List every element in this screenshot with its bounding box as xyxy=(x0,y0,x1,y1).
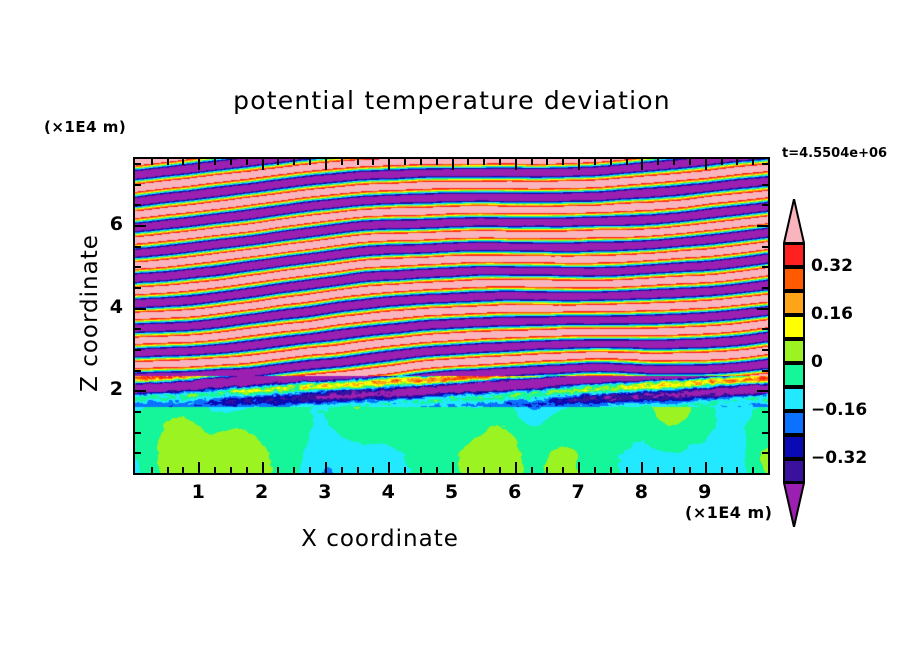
x-major-tick xyxy=(578,462,580,473)
colorbar-over-arrow xyxy=(783,199,805,243)
y-major-tick xyxy=(135,308,146,310)
x-tick-label: 5 xyxy=(432,481,472,503)
page-title: potential temperature deviation xyxy=(0,86,904,115)
x-minor-tick xyxy=(214,467,216,473)
x-tick-label: 7 xyxy=(558,481,598,503)
x-minor-tick xyxy=(436,467,438,473)
x-minor-tick-top xyxy=(214,159,216,165)
colorbar: 0.320.160−0.16−0.32 xyxy=(783,199,805,521)
y-axis-unit-label: (×1E4 m) xyxy=(44,118,126,136)
x-major-tick xyxy=(515,462,517,473)
x-tick-label: 1 xyxy=(178,481,218,503)
x-major-tick xyxy=(325,462,327,473)
colorbar-under-arrow xyxy=(783,483,805,527)
y-minor-tick-right xyxy=(762,163,768,165)
x-major-tick-top xyxy=(388,159,390,170)
x-minor-tick xyxy=(594,467,596,473)
colorbar-tick-label: 0.32 xyxy=(811,256,853,276)
x-minor-tick-top xyxy=(277,159,279,165)
x-major-tick-top xyxy=(578,159,580,170)
x-minor-tick xyxy=(293,467,295,473)
y-minor-tick-right xyxy=(762,411,768,413)
contour-plot-area xyxy=(133,157,770,475)
y-major-tick-right xyxy=(757,308,768,310)
x-minor-tick-top xyxy=(182,159,184,165)
y-minor-tick-right xyxy=(762,452,768,454)
x-minor-tick xyxy=(546,467,548,473)
time-annotation: t=4.5504e+06 xyxy=(782,146,887,161)
colorbar-band xyxy=(783,435,805,459)
x-minor-tick-top xyxy=(562,159,564,165)
y-minor-tick xyxy=(135,328,141,330)
colorbar-tick-label: −0.32 xyxy=(811,448,867,468)
y-minor-tick xyxy=(135,411,141,413)
y-major-tick-right xyxy=(757,390,768,392)
y-minor-tick xyxy=(135,432,141,434)
colorbar-band xyxy=(783,411,805,435)
x-minor-tick xyxy=(721,467,723,473)
x-major-tick-top xyxy=(452,159,454,170)
y-minor-tick xyxy=(135,246,141,248)
y-minor-tick xyxy=(135,163,141,165)
x-minor-tick-top xyxy=(309,159,311,165)
x-minor-tick xyxy=(562,467,564,473)
x-minor-tick xyxy=(689,467,691,473)
x-minor-tick xyxy=(404,467,406,473)
y-minor-tick-right xyxy=(762,184,768,186)
x-axis-unit-label: (×1E4 m) xyxy=(685,503,772,522)
x-minor-tick-top xyxy=(721,159,723,165)
x-minor-tick xyxy=(673,467,675,473)
x-major-tick-top xyxy=(325,159,327,170)
colorbar-band xyxy=(783,459,805,483)
x-minor-tick xyxy=(167,467,169,473)
x-minor-tick xyxy=(277,467,279,473)
x-minor-tick-top xyxy=(499,159,501,165)
y-major-tick xyxy=(135,225,146,227)
x-tick-label: 4 xyxy=(368,481,408,503)
y-minor-tick xyxy=(135,452,141,454)
x-minor-tick-top xyxy=(246,159,248,165)
y-axis-title: Z coordinate xyxy=(77,203,103,423)
x-minor-tick xyxy=(230,467,232,473)
x-minor-tick-top xyxy=(420,159,422,165)
x-minor-tick xyxy=(499,467,501,473)
colorbar-band xyxy=(783,339,805,363)
y-minor-tick xyxy=(135,287,141,289)
x-tick-label: 8 xyxy=(621,481,661,503)
x-minor-tick-top xyxy=(436,159,438,165)
y-major-tick xyxy=(135,390,146,392)
colorbar-tick-label: 0 xyxy=(811,352,823,372)
x-minor-tick-top xyxy=(372,159,374,165)
colorbar-tick-label: 0.16 xyxy=(811,304,853,324)
colorbar-band xyxy=(783,315,805,339)
y-major-tick-right xyxy=(757,225,768,227)
x-minor-tick-top xyxy=(752,159,754,165)
x-minor-tick xyxy=(467,467,469,473)
x-minor-tick-top xyxy=(594,159,596,165)
x-minor-tick xyxy=(657,467,659,473)
x-minor-tick xyxy=(736,467,738,473)
x-tick-label: 2 xyxy=(242,481,282,503)
y-minor-tick-right xyxy=(762,432,768,434)
y-minor-tick xyxy=(135,204,141,206)
x-minor-tick-top xyxy=(689,159,691,165)
x-minor-tick-top xyxy=(483,159,485,165)
x-minor-tick xyxy=(531,467,533,473)
x-major-tick xyxy=(705,462,707,473)
x-minor-tick-top xyxy=(230,159,232,165)
y-minor-tick xyxy=(135,266,141,268)
y-minor-tick xyxy=(135,184,141,186)
colorbar-band xyxy=(783,243,805,267)
x-minor-tick-top xyxy=(626,159,628,165)
x-minor-tick xyxy=(610,467,612,473)
x-minor-tick-top xyxy=(357,159,359,165)
y-minor-tick-right xyxy=(762,349,768,351)
y-minor-tick xyxy=(135,349,141,351)
x-major-tick-top xyxy=(198,159,200,170)
y-minor-tick-right xyxy=(762,370,768,372)
x-minor-tick-top xyxy=(341,159,343,165)
x-minor-tick xyxy=(420,467,422,473)
x-major-tick-top xyxy=(641,159,643,170)
x-minor-tick-top xyxy=(610,159,612,165)
x-major-tick-top xyxy=(705,159,707,170)
x-minor-tick-top xyxy=(736,159,738,165)
x-minor-tick xyxy=(483,467,485,473)
x-minor-tick-top xyxy=(657,159,659,165)
x-minor-tick xyxy=(182,467,184,473)
y-minor-tick-right xyxy=(762,204,768,206)
y-minor-tick-right xyxy=(762,246,768,248)
x-major-tick xyxy=(262,462,264,473)
x-minor-tick xyxy=(372,467,374,473)
x-tick-label: 3 xyxy=(305,481,345,503)
x-minor-tick xyxy=(151,467,153,473)
x-minor-tick-top xyxy=(546,159,548,165)
y-minor-tick xyxy=(135,370,141,372)
x-major-tick-top xyxy=(515,159,517,170)
colorbar-band xyxy=(783,291,805,315)
x-major-tick xyxy=(641,462,643,473)
figure-canvas: potential temperature deviation (×1E4 m)… xyxy=(0,0,904,654)
colorbar-band xyxy=(783,363,805,387)
x-minor-tick xyxy=(341,467,343,473)
x-tick-label: 9 xyxy=(685,481,725,503)
x-major-tick-top xyxy=(262,159,264,170)
x-minor-tick-top xyxy=(151,159,153,165)
x-minor-tick-top xyxy=(467,159,469,165)
contour-field xyxy=(135,159,768,473)
colorbar-band xyxy=(783,387,805,411)
x-major-tick xyxy=(198,462,200,473)
x-minor-tick-top xyxy=(673,159,675,165)
y-minor-tick-right xyxy=(762,328,768,330)
x-axis-title: X coordinate xyxy=(0,526,760,552)
x-minor-tick xyxy=(626,467,628,473)
x-tick-label: 6 xyxy=(495,481,535,503)
x-minor-tick-top xyxy=(404,159,406,165)
x-minor-tick-top xyxy=(531,159,533,165)
y-minor-tick-right xyxy=(762,266,768,268)
colorbar-band xyxy=(783,267,805,291)
x-minor-tick-top xyxy=(293,159,295,165)
colorbar-tick-label: −0.16 xyxy=(811,400,867,420)
y-minor-tick-right xyxy=(762,287,768,289)
x-minor-tick xyxy=(357,467,359,473)
x-major-tick xyxy=(388,462,390,473)
x-minor-tick xyxy=(246,467,248,473)
x-minor-tick xyxy=(752,467,754,473)
x-major-tick xyxy=(452,462,454,473)
x-minor-tick xyxy=(309,467,311,473)
x-minor-tick-top xyxy=(167,159,169,165)
